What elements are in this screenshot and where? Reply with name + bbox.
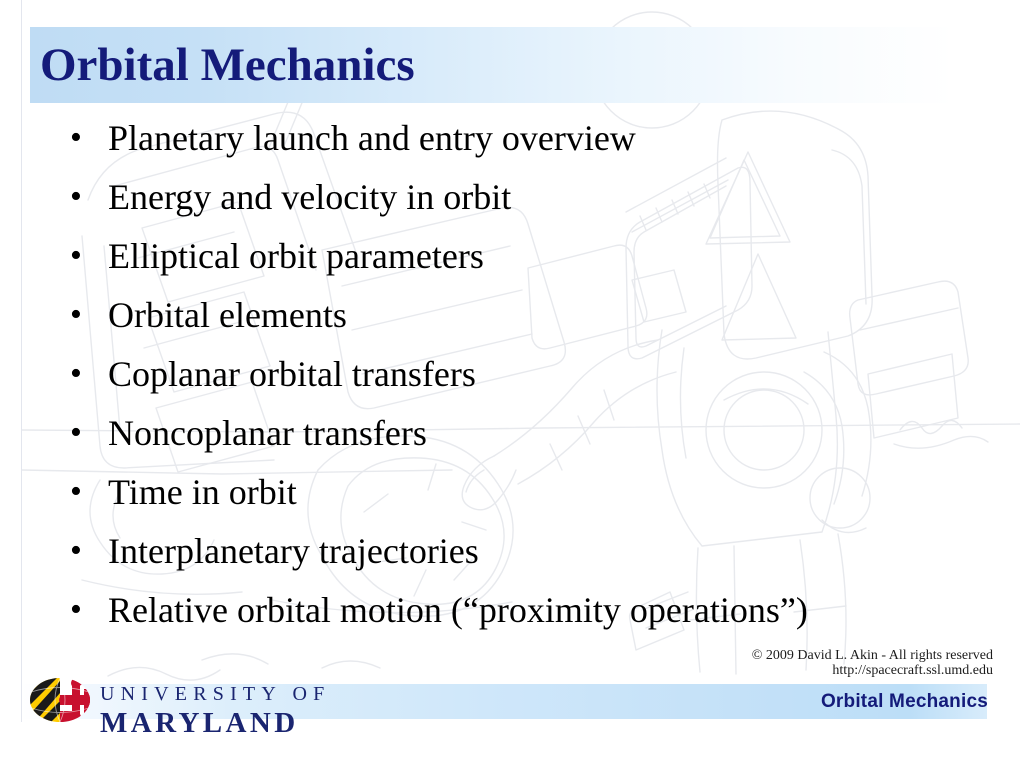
- page-title: Orbital Mechanics: [40, 37, 940, 93]
- list-item: • Elliptical orbit parameters: [62, 230, 992, 289]
- bullet-list: • Planetary launch and entry overview • …: [62, 112, 992, 643]
- bullet-point-icon: •: [62, 112, 108, 164]
- bullet-point-icon: •: [62, 230, 108, 282]
- footer-title: Orbital Mechanics: [821, 690, 988, 714]
- bullet-point-icon: •: [62, 289, 108, 341]
- list-item: • Relative orbital motion (“proximity op…: [62, 584, 992, 643]
- bullet-point-icon: •: [62, 348, 108, 400]
- list-item-label: Time in orbit: [108, 466, 297, 518]
- list-item: • Orbital elements: [62, 289, 992, 348]
- list-item: • Coplanar orbital transfers: [62, 348, 992, 407]
- list-item-label: Relative orbital motion (“proximity oper…: [108, 584, 808, 636]
- list-item-label: Orbital elements: [108, 289, 347, 341]
- copyright-line: © 2009 David L. Akin - All rights reserv…: [752, 648, 993, 663]
- list-item-label: Noncoplanar transfers: [108, 407, 427, 459]
- list-item-label: Coplanar orbital transfers: [108, 348, 476, 400]
- umd-logo: UNIVERSITY OF MARYLAND: [28, 676, 388, 736]
- bullet-point-icon: •: [62, 525, 108, 577]
- list-item: • Time in orbit: [62, 466, 992, 525]
- list-item: • Noncoplanar transfers: [62, 407, 992, 466]
- bullet-point-icon: •: [62, 466, 108, 518]
- maryland-flag-globe-icon: [28, 677, 92, 723]
- list-item-label: Elliptical orbit parameters: [108, 230, 484, 282]
- copyright-block: © 2009 David L. Akin - All rights reserv…: [752, 648, 993, 678]
- list-item: • Energy and velocity in orbit: [62, 171, 992, 230]
- umd-wordmark: UNIVERSITY OF MARYLAND: [100, 682, 330, 736]
- list-item: • Planetary launch and entry overview: [62, 112, 992, 171]
- copyright-url: http://spacecraft.ssl.umd.edu: [752, 663, 993, 678]
- bullet-point-icon: •: [62, 407, 108, 459]
- list-item-label: Energy and velocity in orbit: [108, 171, 511, 223]
- bullet-point-icon: •: [62, 584, 108, 636]
- slide-canvas: Orbital Mechanics • Planetary launch and…: [0, 0, 1020, 765]
- umd-wordmark-line2: MARYLAND: [100, 707, 330, 736]
- list-item-label: Planetary launch and entry overview: [108, 112, 636, 164]
- bullet-point-icon: •: [62, 171, 108, 223]
- list-item: • Interplanetary trajectories: [62, 525, 992, 584]
- list-item-label: Interplanetary trajectories: [108, 525, 479, 577]
- umd-wordmark-line1: UNIVERSITY OF: [100, 682, 330, 707]
- slide-left-rule: [21, 0, 22, 722]
